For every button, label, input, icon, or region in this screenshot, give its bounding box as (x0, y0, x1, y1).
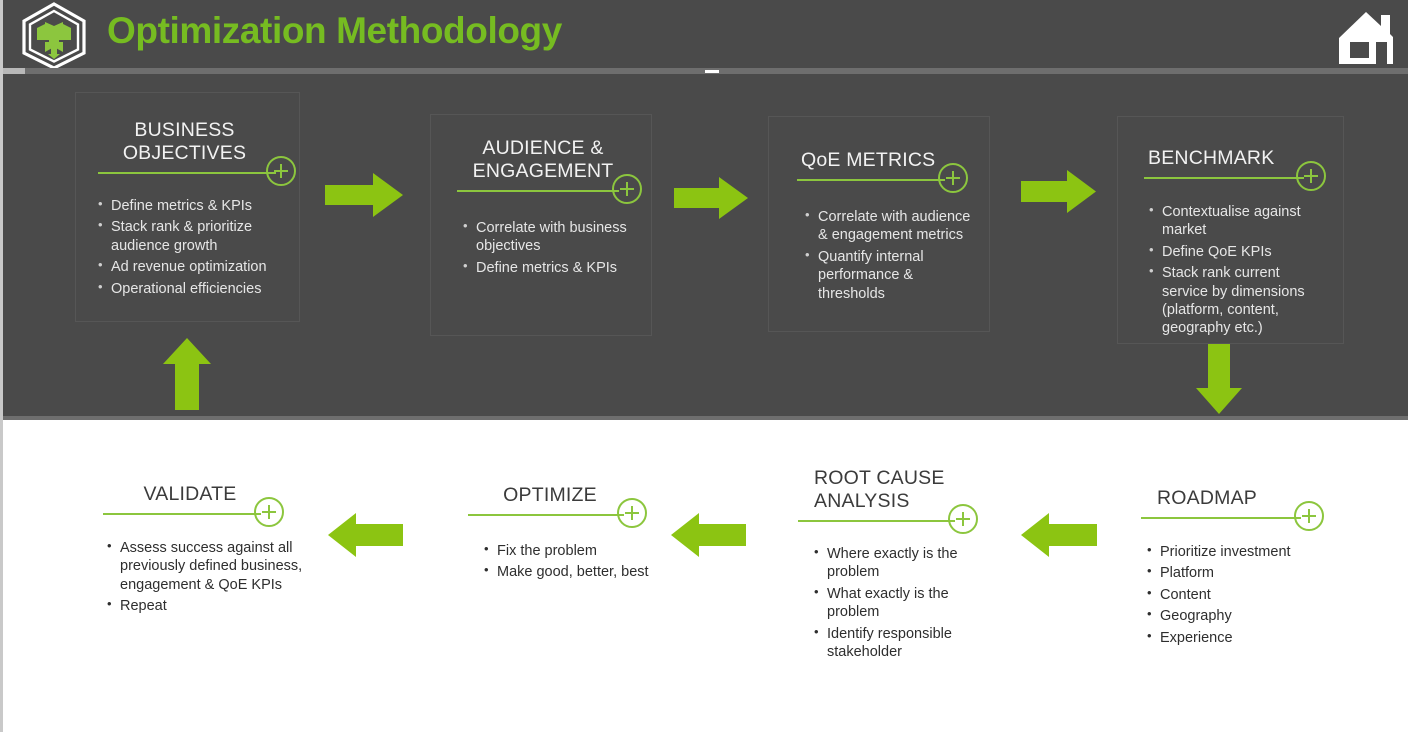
arrow-business-to-audience (325, 173, 403, 217)
card-root-cause-analysis[interactable]: ROOT CAUSE ANALYSIS Where exactly is the… (798, 467, 993, 647)
card-title: AUDIENCE & ENGAGEMENT (457, 137, 633, 183)
accent-rule (457, 190, 619, 192)
card-qoe-metrics[interactable]: QoE METRICS Correlate with audience & en… (768, 116, 990, 332)
list-item: Prioritize investment (1147, 543, 1341, 561)
arrow-roadmap-to-rootcause (1021, 513, 1097, 557)
expand-plus-icon[interactable] (1294, 501, 1324, 531)
card-rule-row (468, 508, 658, 530)
arrow-optimize-to-validate (328, 513, 403, 557)
card-benchmark[interactable]: BENCHMARK Contextualise against market D… (1117, 116, 1344, 344)
card-bullet-list: Fix the problem Make good, better, best (468, 542, 658, 582)
card-header: BENCHMARK (1144, 147, 1327, 193)
list-item: Ad revenue optimization (98, 258, 281, 276)
card-header: QoE METRICS (797, 149, 971, 195)
expand-plus-icon[interactable] (617, 498, 647, 528)
list-item: Correlate with audience & engagement met… (805, 208, 971, 245)
arrow-validate-to-business (163, 338, 211, 410)
expand-plus-icon[interactable] (948, 504, 978, 534)
accent-rule (98, 172, 276, 174)
card-header: ROOT CAUSE ANALYSIS (798, 467, 993, 536)
card-bullet-list: Assess success against all previously de… (103, 539, 303, 616)
home-icon[interactable] (1333, 4, 1399, 68)
list-item: Stack rank & prioritize audience growth (98, 218, 281, 255)
card-bullet-list: Correlate with business objectives Defin… (457, 219, 633, 277)
list-item: Operational efficiencies (98, 280, 281, 298)
accent-rule (468, 514, 624, 516)
list-item: Platform (1147, 564, 1341, 582)
list-item: Stack rank current service by dimensions… (1149, 264, 1327, 338)
list-item: Define metrics & KPIs (463, 259, 633, 277)
slide-handle-marker (705, 70, 719, 73)
card-validate[interactable]: VALIDATE Assess success against all prev… (103, 483, 303, 653)
list-item: Quantify internal performance & threshol… (805, 248, 971, 303)
accent-rule (797, 179, 945, 181)
arrow-benchmark-to-roadmap (1196, 344, 1242, 414)
card-bullet-list: Where exactly is the problem What exactl… (798, 545, 993, 661)
page-title: Optimization Methodology (107, 10, 562, 52)
accent-rule (103, 513, 261, 515)
expand-plus-icon[interactable] (612, 174, 642, 204)
card-rule-row (103, 507, 303, 529)
slide-canvas: Optimization Methodology BUSINESS OBJECT… (0, 0, 1408, 732)
list-item: Make good, better, best (484, 563, 658, 581)
card-header: ROADMAP (1141, 487, 1341, 533)
card-rule-row (1144, 171, 1327, 193)
card-header: OPTIMIZE (468, 484, 658, 530)
card-bullet-list: Prioritize investment Platform Content G… (1141, 543, 1341, 647)
expand-plus-icon[interactable] (1296, 161, 1326, 191)
card-header: AUDIENCE & ENGAGEMENT (457, 137, 633, 206)
list-item: Contextualise against market (1149, 203, 1327, 240)
list-item: Correlate with business objectives (463, 219, 633, 256)
card-roadmap[interactable]: ROADMAP Prioritize investment Platform C… (1141, 487, 1341, 647)
expand-plus-icon[interactable] (254, 497, 284, 527)
list-item: Fix the problem (484, 542, 658, 560)
card-header: BUSINESS OBJECTIVES (98, 119, 281, 188)
card-optimize[interactable]: OPTIMIZE Fix the problem Make good, bett… (468, 484, 658, 614)
card-bullet-list: Contextualise against market Define QoE … (1144, 203, 1327, 338)
card-bullet-list: Correlate with audience & engagement met… (797, 208, 971, 303)
list-item: Content (1147, 586, 1341, 604)
list-item: Experience (1147, 629, 1341, 647)
list-item: Define metrics & KPIs (98, 197, 281, 215)
hexagon-arrows-logo-icon (19, 2, 89, 70)
accent-rule (1144, 177, 1304, 179)
list-item: Identify responsible stakeholder (814, 625, 993, 662)
arrow-rootcause-to-optimize (671, 513, 746, 557)
arrow-qoe-to-benchmark (1021, 170, 1096, 213)
list-item: What exactly is the problem (814, 585, 993, 622)
card-audience-engagement[interactable]: AUDIENCE & ENGAGEMENT Correlate with bus… (430, 114, 652, 336)
list-item: Repeat (107, 597, 303, 615)
accent-rule (798, 520, 955, 522)
card-rule-row (798, 514, 993, 536)
card-header: VALIDATE (103, 483, 303, 529)
card-business-objectives[interactable]: BUSINESS OBJECTIVES Define metrics & KPI… (75, 92, 300, 322)
accent-rule (1141, 517, 1301, 519)
card-rule-row (1141, 511, 1341, 533)
list-item: Where exactly is the problem (814, 545, 993, 582)
card-rule-row (98, 166, 281, 188)
slide-header: Optimization Methodology (3, 0, 1408, 72)
card-rule-row (457, 184, 633, 206)
list-item: Assess success against all previously de… (107, 539, 303, 594)
card-title: BUSINESS OBJECTIVES (98, 119, 281, 165)
expand-plus-icon[interactable] (938, 163, 968, 193)
card-rule-row (797, 173, 971, 195)
list-item: Define QoE KPIs (1149, 243, 1327, 261)
expand-plus-icon[interactable] (266, 156, 296, 186)
arrow-audience-to-qoe (674, 177, 748, 219)
list-item: Geography (1147, 607, 1341, 625)
card-bullet-list: Define metrics & KPIs Stack rank & prior… (98, 197, 281, 298)
